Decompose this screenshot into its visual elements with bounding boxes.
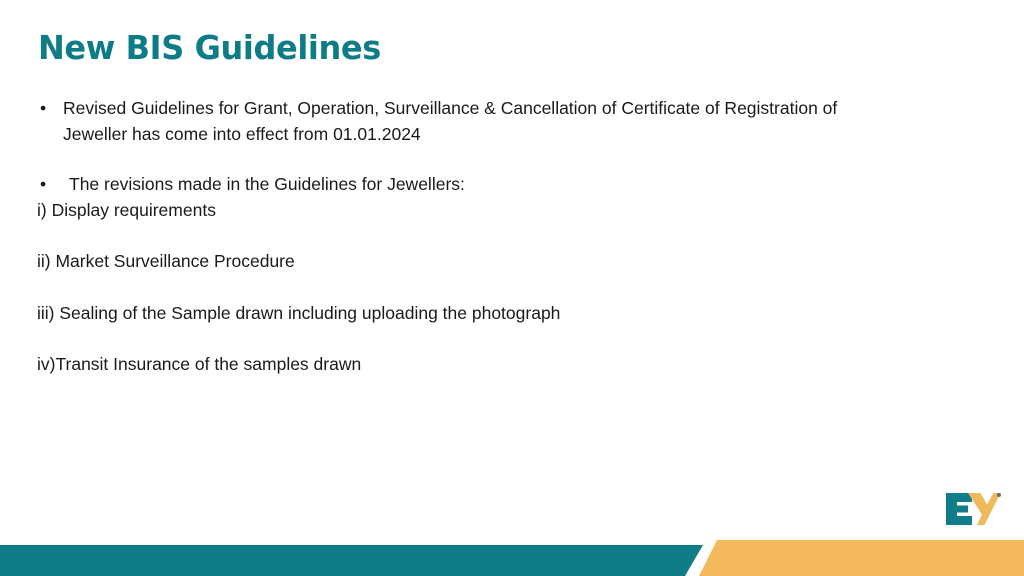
- bullet-marker-icon: •: [36, 96, 63, 122]
- numbered-item-i: i) Display requirements: [36, 198, 866, 224]
- numbered-item-iv: iv)Transit Insurance of the samples draw…: [36, 352, 866, 378]
- brand-logo-icon: [944, 491, 1004, 527]
- brand-logo-svg: [944, 491, 1004, 527]
- spacer-1: [36, 147, 866, 172]
- logo-c-shape: [946, 493, 972, 525]
- slide-body: • Revised Guidelines for Grant, Operatio…: [36, 96, 866, 378]
- bullet-item-1-text: Revised Guidelines for Grant, Operation,…: [63, 96, 866, 147]
- footer-decoration: [0, 536, 1024, 576]
- numbered-item-iii: iii) Sealing of the Sample drawn includi…: [36, 301, 866, 327]
- bullet-item-2-text: The revisions made in the Guidelines for…: [69, 172, 866, 198]
- spacer-4: [36, 326, 866, 352]
- slide: New BIS Guidelines • Revised Guidelines …: [0, 0, 1024, 576]
- bullet-marker-icon: •: [36, 172, 69, 198]
- footer-decoration-svg: [0, 536, 1024, 576]
- footer-gold-band: [699, 540, 1024, 576]
- page-title: New BIS Guidelines: [38, 28, 911, 68]
- spacer-2: [36, 223, 866, 249]
- bullet-item-1: • Revised Guidelines for Grant, Operatio…: [36, 96, 866, 147]
- registered-mark-icon: [997, 493, 1001, 497]
- logo-y-shape: [968, 493, 1001, 525]
- bullet-item-2: • The revisions made in the Guidelines f…: [36, 172, 866, 198]
- spacer-3: [36, 275, 866, 301]
- footer-teal-band: [0, 545, 703, 576]
- numbered-item-ii: ii) Market Surveillance Procedure: [36, 249, 866, 275]
